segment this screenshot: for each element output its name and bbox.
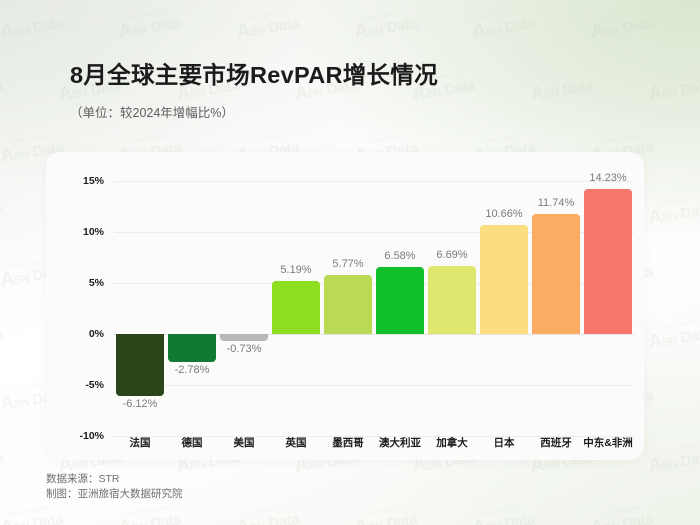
- page-title: 8月全球主要市场RevPAR增长情况: [70, 56, 438, 90]
- y-axis-tick-label: 10%: [46, 226, 104, 238]
- y-axis-tick-label: 0%: [46, 328, 104, 340]
- bar[interactable]: [272, 281, 320, 334]
- bar-column[interactable]: -6.12%法国: [114, 152, 166, 460]
- bar[interactable]: [480, 225, 528, 334]
- bar-column[interactable]: 5.77%墨西哥: [322, 152, 374, 460]
- chart-subtitle: （单位：较2024年增幅比%）: [70, 102, 234, 121]
- data-source-text: 数据来源：STR: [46, 472, 183, 487]
- bar-column[interactable]: -0.73%美国: [218, 152, 270, 460]
- bar-column[interactable]: -2.78%德国: [166, 152, 218, 460]
- bar-column[interactable]: 5.19%英国: [270, 152, 322, 460]
- bars-group: -6.12%法国-2.78%德国-0.73%美国5.19%英国5.77%墨西哥6…: [114, 152, 634, 460]
- x-axis-tick-label: 中东&非洲: [570, 435, 646, 450]
- bar[interactable]: [324, 275, 372, 334]
- chart-card: 15%10%5%0%-5%-10% -6.12%法国-2.78%德国-0.73%…: [46, 152, 644, 460]
- bar-column[interactable]: 11.74%西班牙: [530, 152, 582, 460]
- y-axis-tick-label: 5%: [46, 277, 104, 289]
- bar-column[interactable]: 6.58%澳大利亚: [374, 152, 426, 460]
- footer-notes: 数据来源：STR 制图：亚洲旅宿大数据研究院: [46, 472, 183, 502]
- bar[interactable]: [584, 189, 632, 334]
- y-axis-tick-label: -5%: [46, 379, 104, 391]
- y-axis-tick-label: -10%: [46, 430, 104, 442]
- chart-credit-text: 制图：亚洲旅宿大数据研究院: [46, 487, 183, 502]
- y-axis-tick-label: 15%: [46, 175, 104, 187]
- bar[interactable]: [532, 214, 580, 334]
- bar[interactable]: [376, 267, 424, 334]
- bar-chart-plot: 15%10%5%0%-5%-10% -6.12%法国-2.78%德国-0.73%…: [46, 152, 644, 460]
- bar-value-label: 14.23%: [568, 172, 648, 184]
- bar[interactable]: [428, 266, 476, 334]
- bar-column[interactable]: 6.69%加拿大: [426, 152, 478, 460]
- bar-column[interactable]: 14.23%中东&非洲: [582, 152, 634, 460]
- bar[interactable]: [220, 334, 268, 341]
